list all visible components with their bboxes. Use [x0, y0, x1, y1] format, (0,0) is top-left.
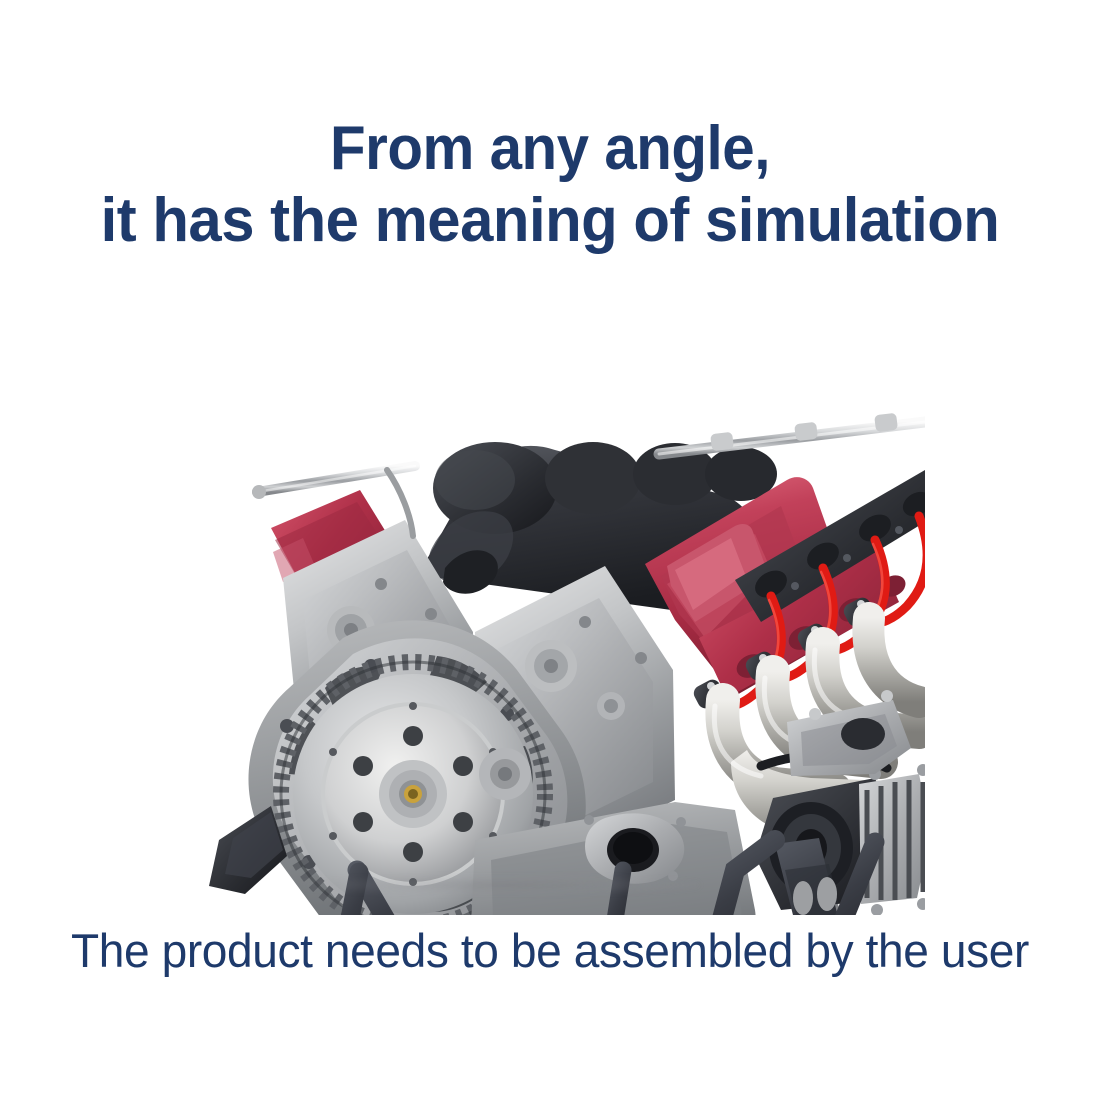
product-assembly-note: The product needs to be assembled by the… [11, 923, 1089, 978]
headline-line-1: From any angle, [33, 118, 1067, 186]
fuel-rail [659, 413, 925, 454]
v8-engine-illustration [175, 370, 925, 915]
product-image [175, 370, 925, 915]
page-title: From any angle, it has the meaning of si… [0, 118, 1100, 252]
product-promo-page: From any angle, it has the meaning of si… [0, 0, 1100, 1100]
headline-line-2: it has the meaning of simulation [19, 186, 1081, 252]
